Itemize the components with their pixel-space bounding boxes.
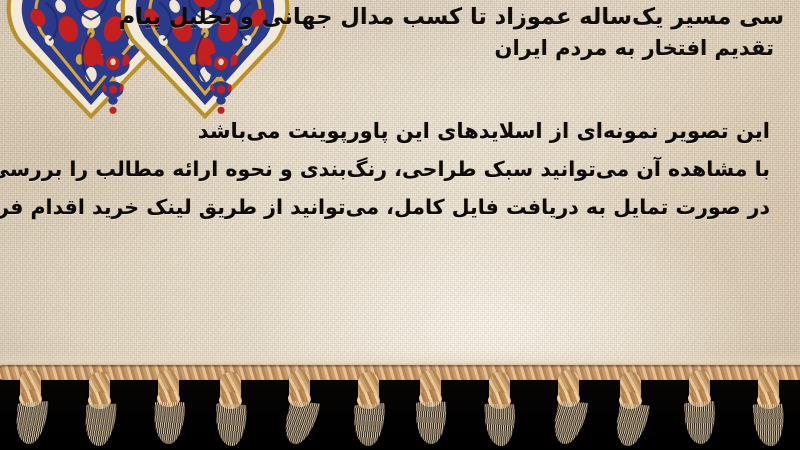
tassel-knot (20, 370, 41, 406)
tassel-skirt (83, 404, 116, 447)
fringe-tassel (552, 370, 586, 444)
body-line-1: این تصویر نمونه‌ای از اسلایدهای این پاور… (10, 112, 770, 150)
tassel-skirt (153, 402, 185, 445)
fringe-tassel (83, 372, 117, 446)
tassel-skirt (353, 403, 385, 447)
tassel-skirt (684, 401, 715, 445)
tassel-skirt (416, 402, 446, 445)
slide-title: سی مسیر یک‌ساله عموزاد تا کسب مدال جهانی… (0, 2, 774, 64)
fringe-tassel (283, 370, 317, 444)
slide-canvas: سی مسیر یک‌ساله عموزاد تا کسب مدال جهانی… (0, 0, 800, 450)
slide-text-layer: سی مسیر یک‌ساله عموزاد تا کسب مدال جهانی… (0, 0, 800, 378)
tassel-skirt (14, 401, 49, 445)
fringe-tassel (214, 372, 248, 446)
tassel-knot (89, 372, 110, 408)
tassel-skirt (612, 403, 650, 448)
tassel-knot (489, 372, 510, 408)
carpet-knotted-fringe (0, 352, 800, 450)
tassel-skirt (549, 401, 589, 445)
tassel-skirt (485, 404, 516, 447)
tassel-skirt (216, 403, 247, 447)
fringe-tassel (752, 372, 786, 446)
fringe-tassel (414, 370, 448, 444)
title-line-2: تقدیم افتخار به مردم ایران (0, 33, 774, 64)
tassel-skirt (279, 401, 320, 446)
fringe-tassel (614, 372, 648, 446)
slide-body: این تصویر نمونه‌ای از اسلایدهای این پاور… (10, 112, 770, 226)
tassel-knot (158, 370, 179, 406)
fringe-twisted-cord (0, 365, 800, 380)
body-line-3: در صورت تمایل به دریافت فایل کامل، می‌تو… (10, 188, 770, 226)
title-line-1: سی مسیر یک‌ساله عموزاد تا کسب مدال جهانی… (0, 2, 784, 33)
tassel-knot (758, 372, 779, 408)
fringe-tassel (152, 370, 186, 444)
tassel-skirt (752, 404, 785, 447)
body-line-2: با مشاهده آن می‌توانید سبک طراحی، رنگ‌بن… (10, 150, 770, 188)
fringe-tassel (352, 372, 386, 446)
fringe-tassel (483, 372, 517, 446)
fringe-tassel (14, 370, 48, 444)
tassel-knot (420, 370, 441, 406)
fringe-tassel (683, 370, 717, 444)
